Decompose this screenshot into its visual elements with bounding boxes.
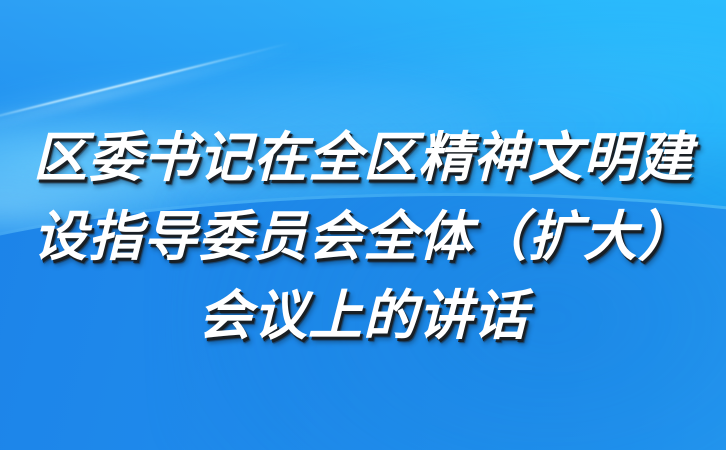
title-line-2: 设指导委员会全体（扩大） bbox=[0, 197, 726, 276]
title-line-3: 会议上的讲话 bbox=[0, 276, 726, 355]
title-line-1: 区委书记在全区精神文明建 bbox=[0, 118, 726, 197]
top-veil-overlay bbox=[0, 0, 726, 120]
title-banner: 区委书记在全区精神文明建 设指导委员会全体（扩大） 会议上的讲话 bbox=[0, 0, 726, 450]
banner-title: 区委书记在全区精神文明建 设指导委员会全体（扩大） 会议上的讲话 bbox=[0, 118, 726, 355]
diagonal-light-streak-icon bbox=[0, 42, 290, 124]
